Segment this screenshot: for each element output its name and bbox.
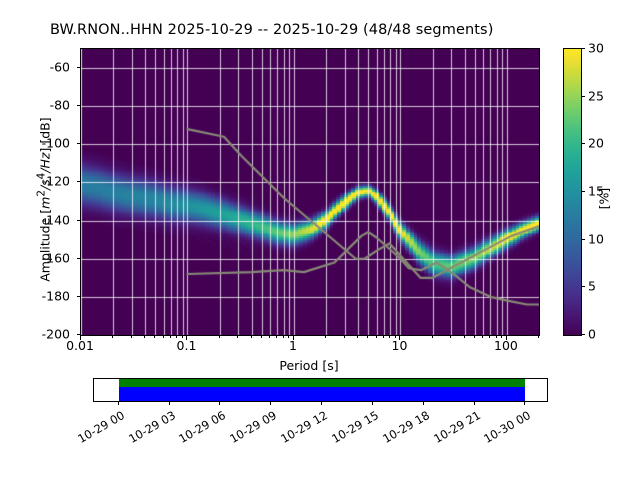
timeline-tick xyxy=(474,401,475,405)
y-axis-tick-label: -180 xyxy=(0,288,70,303)
timeline-x-axis: 10-29 0010-29 0310-29 0610-29 0910-29 12… xyxy=(0,0,640,90)
timeline-tick xyxy=(423,401,424,405)
y-axis-tick xyxy=(77,220,81,221)
x-axis-tick xyxy=(283,335,284,338)
x-axis-tick xyxy=(450,335,451,338)
colorbar-tick-label: 30 xyxy=(588,41,604,56)
timeline-tick xyxy=(524,401,525,405)
x-axis-tick-label: 0.1 xyxy=(177,338,197,353)
x-axis-tick xyxy=(293,335,294,340)
x-axis-tick xyxy=(489,335,490,338)
x-axis-tick xyxy=(501,335,502,338)
y-axis-tick-label: -60 xyxy=(0,60,70,75)
colorbar-tick-label: 10 xyxy=(588,231,604,246)
colorbar-tick xyxy=(581,48,585,49)
colorbar-tick xyxy=(581,143,585,144)
timeline-tick xyxy=(321,401,322,405)
timeline-tick xyxy=(270,401,271,405)
x-axis-tick xyxy=(251,335,252,338)
y-axis-tick xyxy=(77,67,81,68)
x-axis-tick xyxy=(131,335,132,338)
y-axis-tick xyxy=(77,258,81,259)
x-axis-tick xyxy=(144,335,145,338)
timeline-tick xyxy=(118,401,119,405)
colorbar-tick xyxy=(581,334,585,335)
x-axis-tick-label: 0.01 xyxy=(66,338,94,353)
x-axis-tick xyxy=(482,335,483,338)
x-axis-tick-label: 1 xyxy=(289,338,297,353)
y-axis-tick xyxy=(77,105,81,106)
x-axis-tick xyxy=(276,335,277,338)
colorbar-tick-label: 5 xyxy=(588,279,596,294)
colorbar-tick-label: 0 xyxy=(588,327,596,342)
x-axis-tick xyxy=(474,335,475,338)
x-axis-tick xyxy=(538,335,539,338)
y-axis-tick xyxy=(77,143,81,144)
y-axis-tick-label: -160 xyxy=(0,250,70,265)
x-axis-tick xyxy=(261,335,262,338)
psd-coverage-blue xyxy=(119,387,525,401)
x-axis-tick xyxy=(176,335,177,338)
x-axis-tick xyxy=(154,335,155,338)
timeline-tick-label: 10-29 09 xyxy=(217,408,279,452)
colorbar[interactable] xyxy=(563,48,582,336)
data-coverage-green xyxy=(119,379,525,387)
x-axis-tick xyxy=(395,335,396,338)
y-axis-tick xyxy=(77,296,81,297)
colorbar-tick-label: 20 xyxy=(588,136,604,151)
timeline-tick xyxy=(169,401,170,405)
x-axis-tick xyxy=(464,335,465,338)
ppsd-figure: BW.RNON..HHN 2025-10-29 -- 2025-10-29 (4… xyxy=(0,0,640,480)
timeline-tick xyxy=(219,401,220,405)
x-axis-tick xyxy=(219,335,220,338)
x-axis-tick xyxy=(506,335,507,340)
x-axis-tick xyxy=(182,335,183,338)
x-axis-tick xyxy=(357,335,358,338)
timeline-tick-label: 10-29 18 xyxy=(369,408,431,452)
x-axis-tick xyxy=(163,335,164,338)
colorbar-tick-label: 25 xyxy=(588,88,604,103)
x-axis-tick xyxy=(237,335,238,338)
colorbar-tick xyxy=(581,191,585,192)
colorbar-tick xyxy=(581,286,585,287)
ppsd-plot-area[interactable] xyxy=(80,48,540,336)
x-axis-tick xyxy=(325,335,326,338)
x-axis-tick xyxy=(383,335,384,338)
x-axis-tick xyxy=(288,335,289,338)
timeline-tick-label: 10-29 12 xyxy=(267,408,329,452)
x-axis-tick xyxy=(399,335,400,340)
x-axis-tick xyxy=(389,335,390,338)
y-axis-tick-label: -120 xyxy=(0,174,70,189)
x-axis-tick xyxy=(170,335,171,338)
x-axis-tick xyxy=(367,335,368,338)
y-axis-tick xyxy=(77,181,81,182)
colorbar-tick xyxy=(581,239,585,240)
plot-gridlines xyxy=(81,49,539,335)
x-axis-tick xyxy=(376,335,377,338)
y-axis-tick-label: -200 xyxy=(0,327,70,342)
x-axis-tick xyxy=(432,335,433,338)
y-axis-tick-label: -140 xyxy=(0,212,70,227)
colorbar-tick xyxy=(581,96,585,97)
x-axis-tick xyxy=(269,335,270,338)
timeline-tick xyxy=(372,401,373,405)
x-axis-tick-label: 10 xyxy=(392,338,408,353)
x-axis-tick-label: 100 xyxy=(494,338,518,353)
x-axis-tick xyxy=(80,335,81,340)
y-axis-tick-label: -100 xyxy=(0,136,70,151)
y-axis-tick-label: -80 xyxy=(0,98,70,113)
timeline-coverage-axes[interactable] xyxy=(93,378,548,402)
x-axis-tick xyxy=(112,335,113,338)
x-axis-title: Period [s] xyxy=(279,358,338,373)
colorbar-tick-label: 15 xyxy=(588,184,604,199)
x-axis-tick xyxy=(344,335,345,338)
x-axis-tick xyxy=(496,335,497,338)
x-axis-tick xyxy=(186,335,187,340)
colorbar-gradient xyxy=(564,49,581,335)
timeline-tick-label: 10-29 15 xyxy=(319,408,381,452)
